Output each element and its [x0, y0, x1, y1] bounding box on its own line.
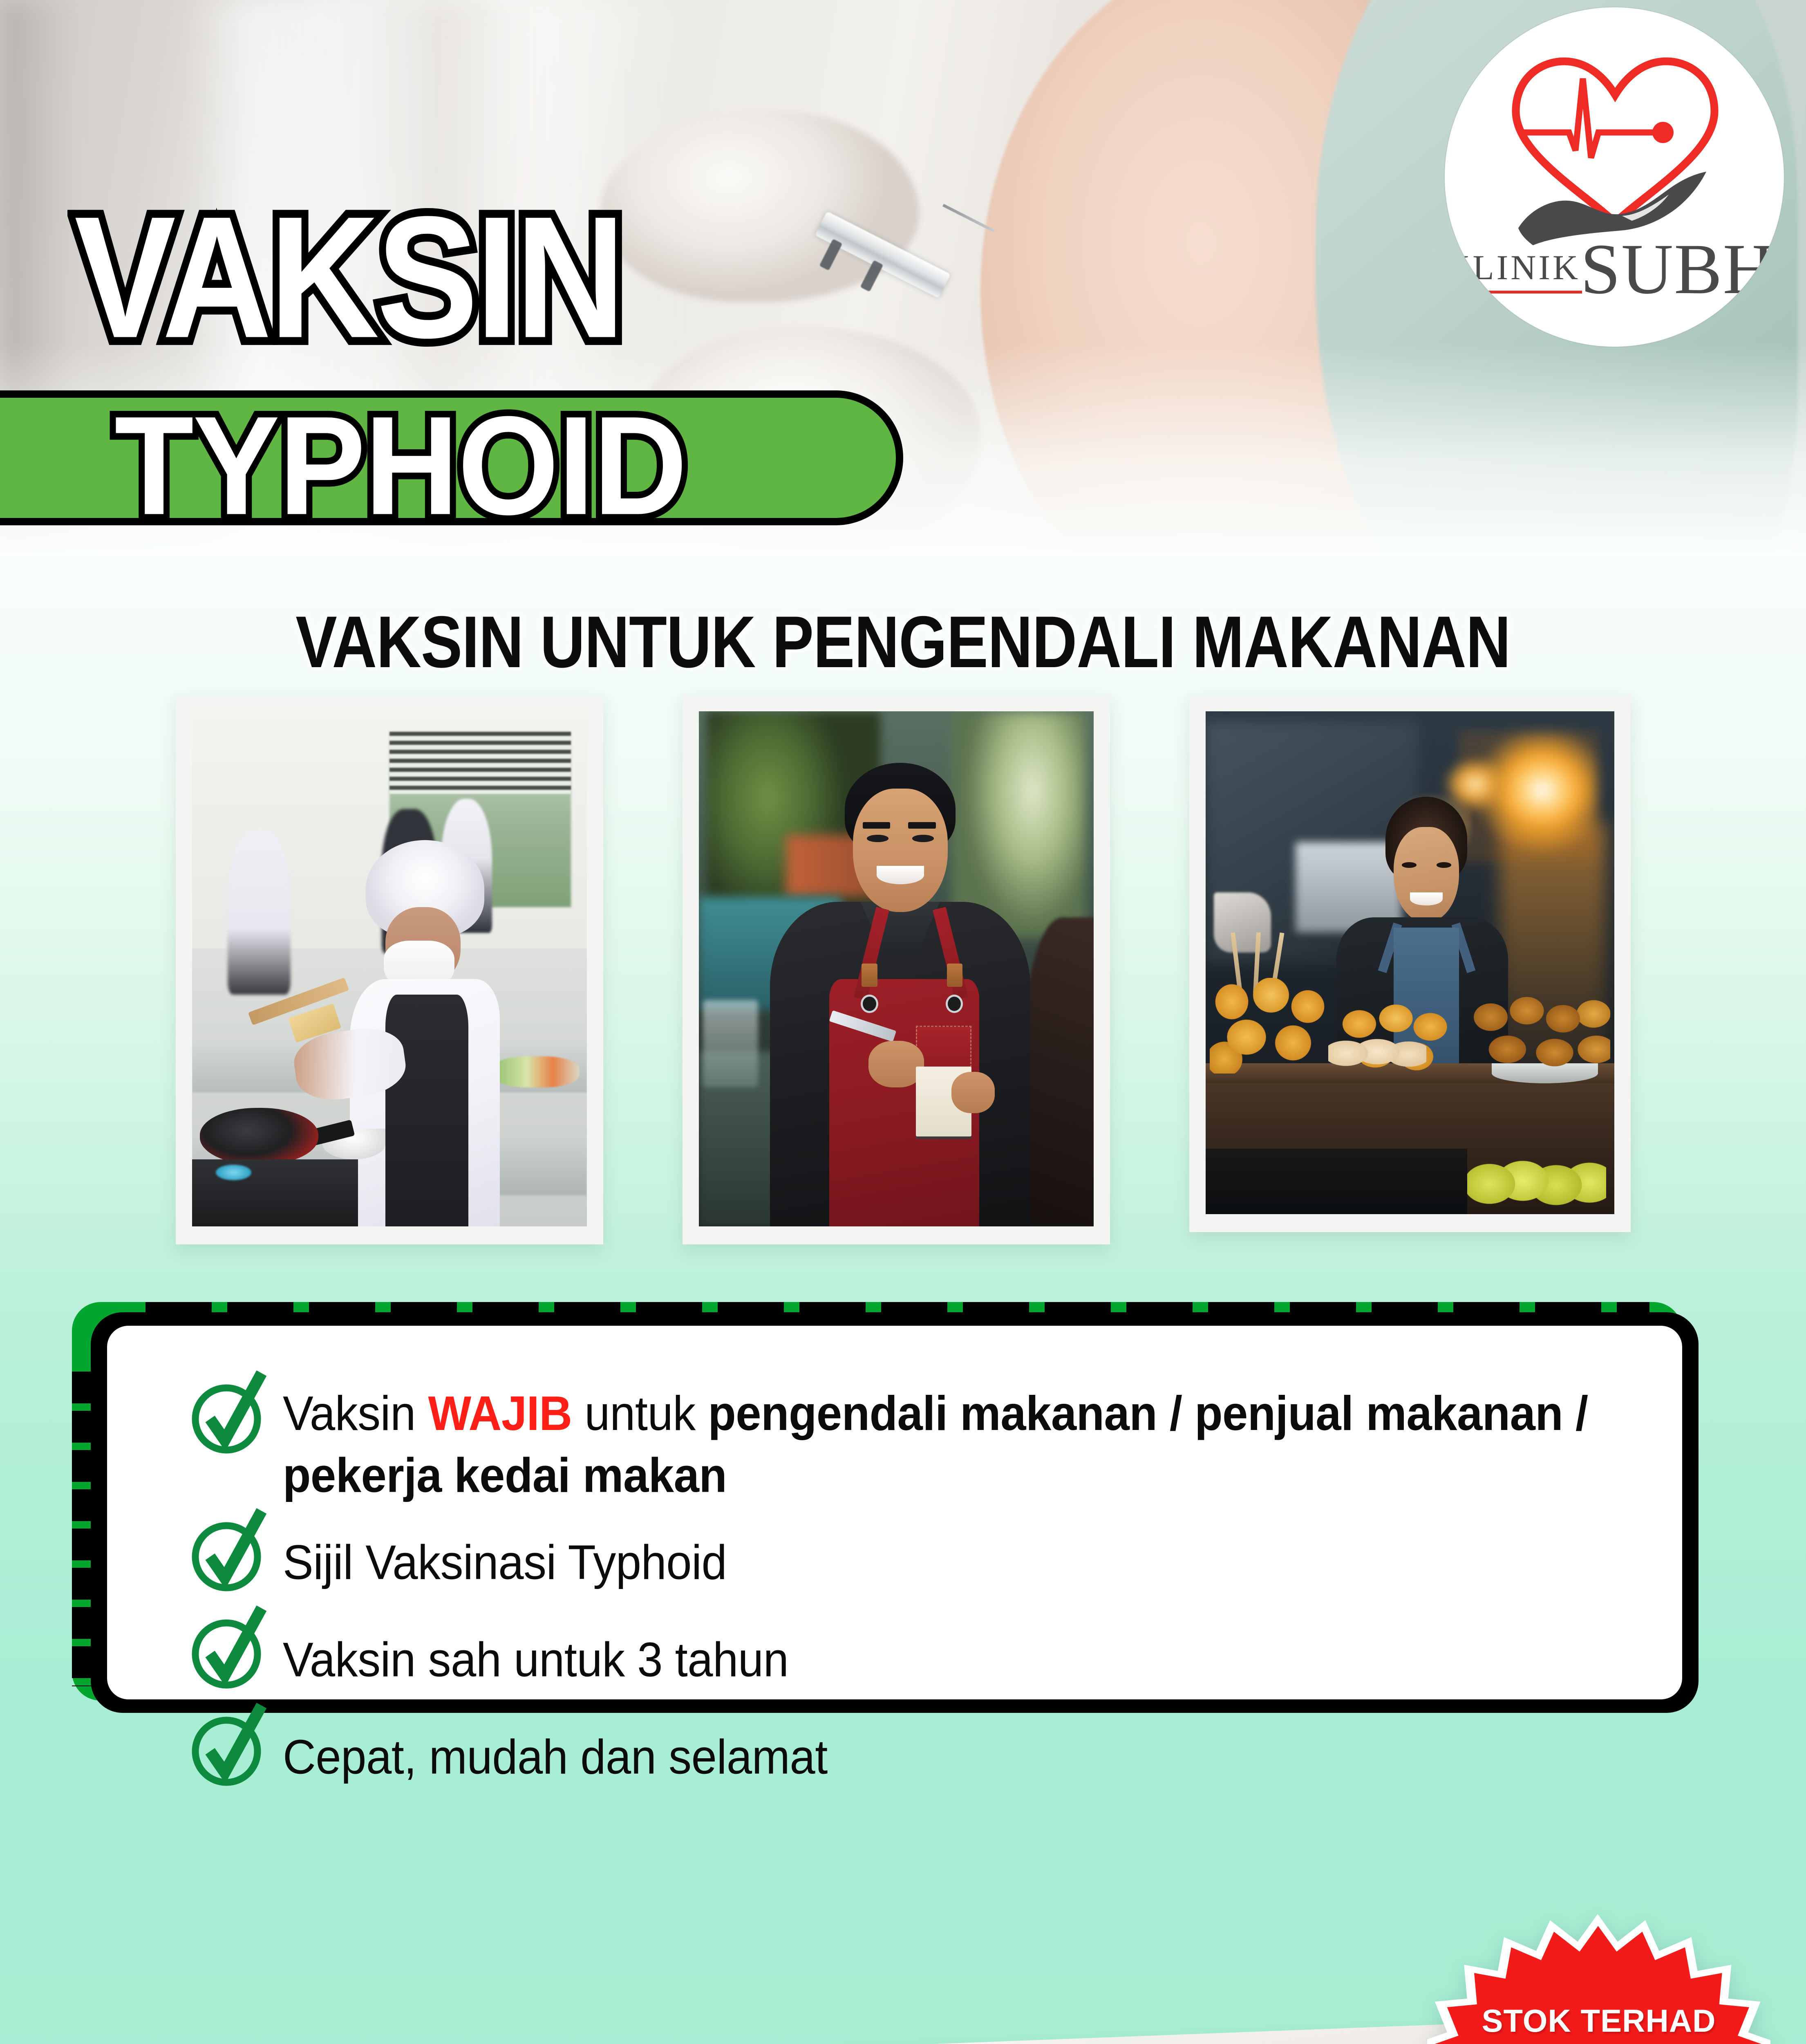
photo-street-food-vendor [1206, 711, 1614, 1214]
wajib-emphasis: WAJIB [428, 1386, 572, 1441]
benefits-card: Vaksin WAJIB untuk pengendali makanan / … [72, 1302, 1699, 1713]
page-subtitle: VAKSIN UNTUK PENGENDALI MAKANAN [0, 600, 1806, 685]
check-circle-icon [189, 1379, 269, 1459]
starburst-icon [1427, 1902, 1770, 2044]
logo-wordmark: KLINIKSUBHA [1445, 228, 1784, 311]
vaccine-product-photo: TYPHIM Vi Polysaccharide typhoid vaccine… [834, 2036, 1528, 2044]
photo-waiter-order [699, 711, 1094, 1226]
card-dash-left [72, 1372, 92, 1686]
page-title-line1: VAKSIN [74, 192, 623, 362]
list-item-label: Sijil Vaksinasi Typhoid [283, 1517, 727, 1594]
list-item-label: Vaksin WAJIB untuk pengendali makanan / … [283, 1379, 1644, 1506]
benefits-list: Vaksin WAJIB untuk pengendali makanan / … [189, 1379, 1644, 1791]
logo-klinik-text: KLINIK [1445, 248, 1580, 287]
list-item: Vaksin WAJIB untuk pengendali makanan / … [189, 1379, 1644, 1499]
card-surface: Vaksin WAJIB untuk pengendali makanan / … [107, 1326, 1682, 1699]
vaccine-box: TYPHIM Vi Polysaccharide typhoid vaccine… [831, 2024, 1466, 2044]
photo-gallery [176, 695, 1639, 1275]
list-item-label: Vaksin sah untuk 3 tahun [283, 1614, 788, 1691]
list-item: Sijil Vaksinasi Typhoid [189, 1517, 1644, 1597]
list-item: Vaksin sah untuk 3 tahun [189, 1614, 1644, 1694]
poster-canvas: KLINIKSUBHA VAKSIN TYPHOID VAKSIN UNTUK … [0, 0, 1806, 2044]
photo-frame-waiter [683, 695, 1110, 1244]
list-item: Cepat, mudah dan selamat [189, 1711, 1644, 1791]
check-circle-icon [189, 1517, 269, 1597]
check-circle-icon [189, 1711, 269, 1791]
clinic-logo-badge: KLINIKSUBHA [1445, 7, 1784, 347]
photo-frame-vendor [1189, 695, 1631, 1232]
limited-stock-badge[interactable]: STOK TERHAD DAPATKAN SEKARANG ! [1427, 1902, 1770, 2044]
list-item-label: Cepat, mudah dan selamat [283, 1711, 828, 1788]
photo-frame-chef [176, 695, 603, 1244]
check-circle-icon [189, 1614, 269, 1694]
logo-subha-text: SUBHA [1580, 229, 1784, 309]
photo-chef-cooking [192, 711, 587, 1226]
page-title-line2: TYPHOID [114, 396, 686, 536]
